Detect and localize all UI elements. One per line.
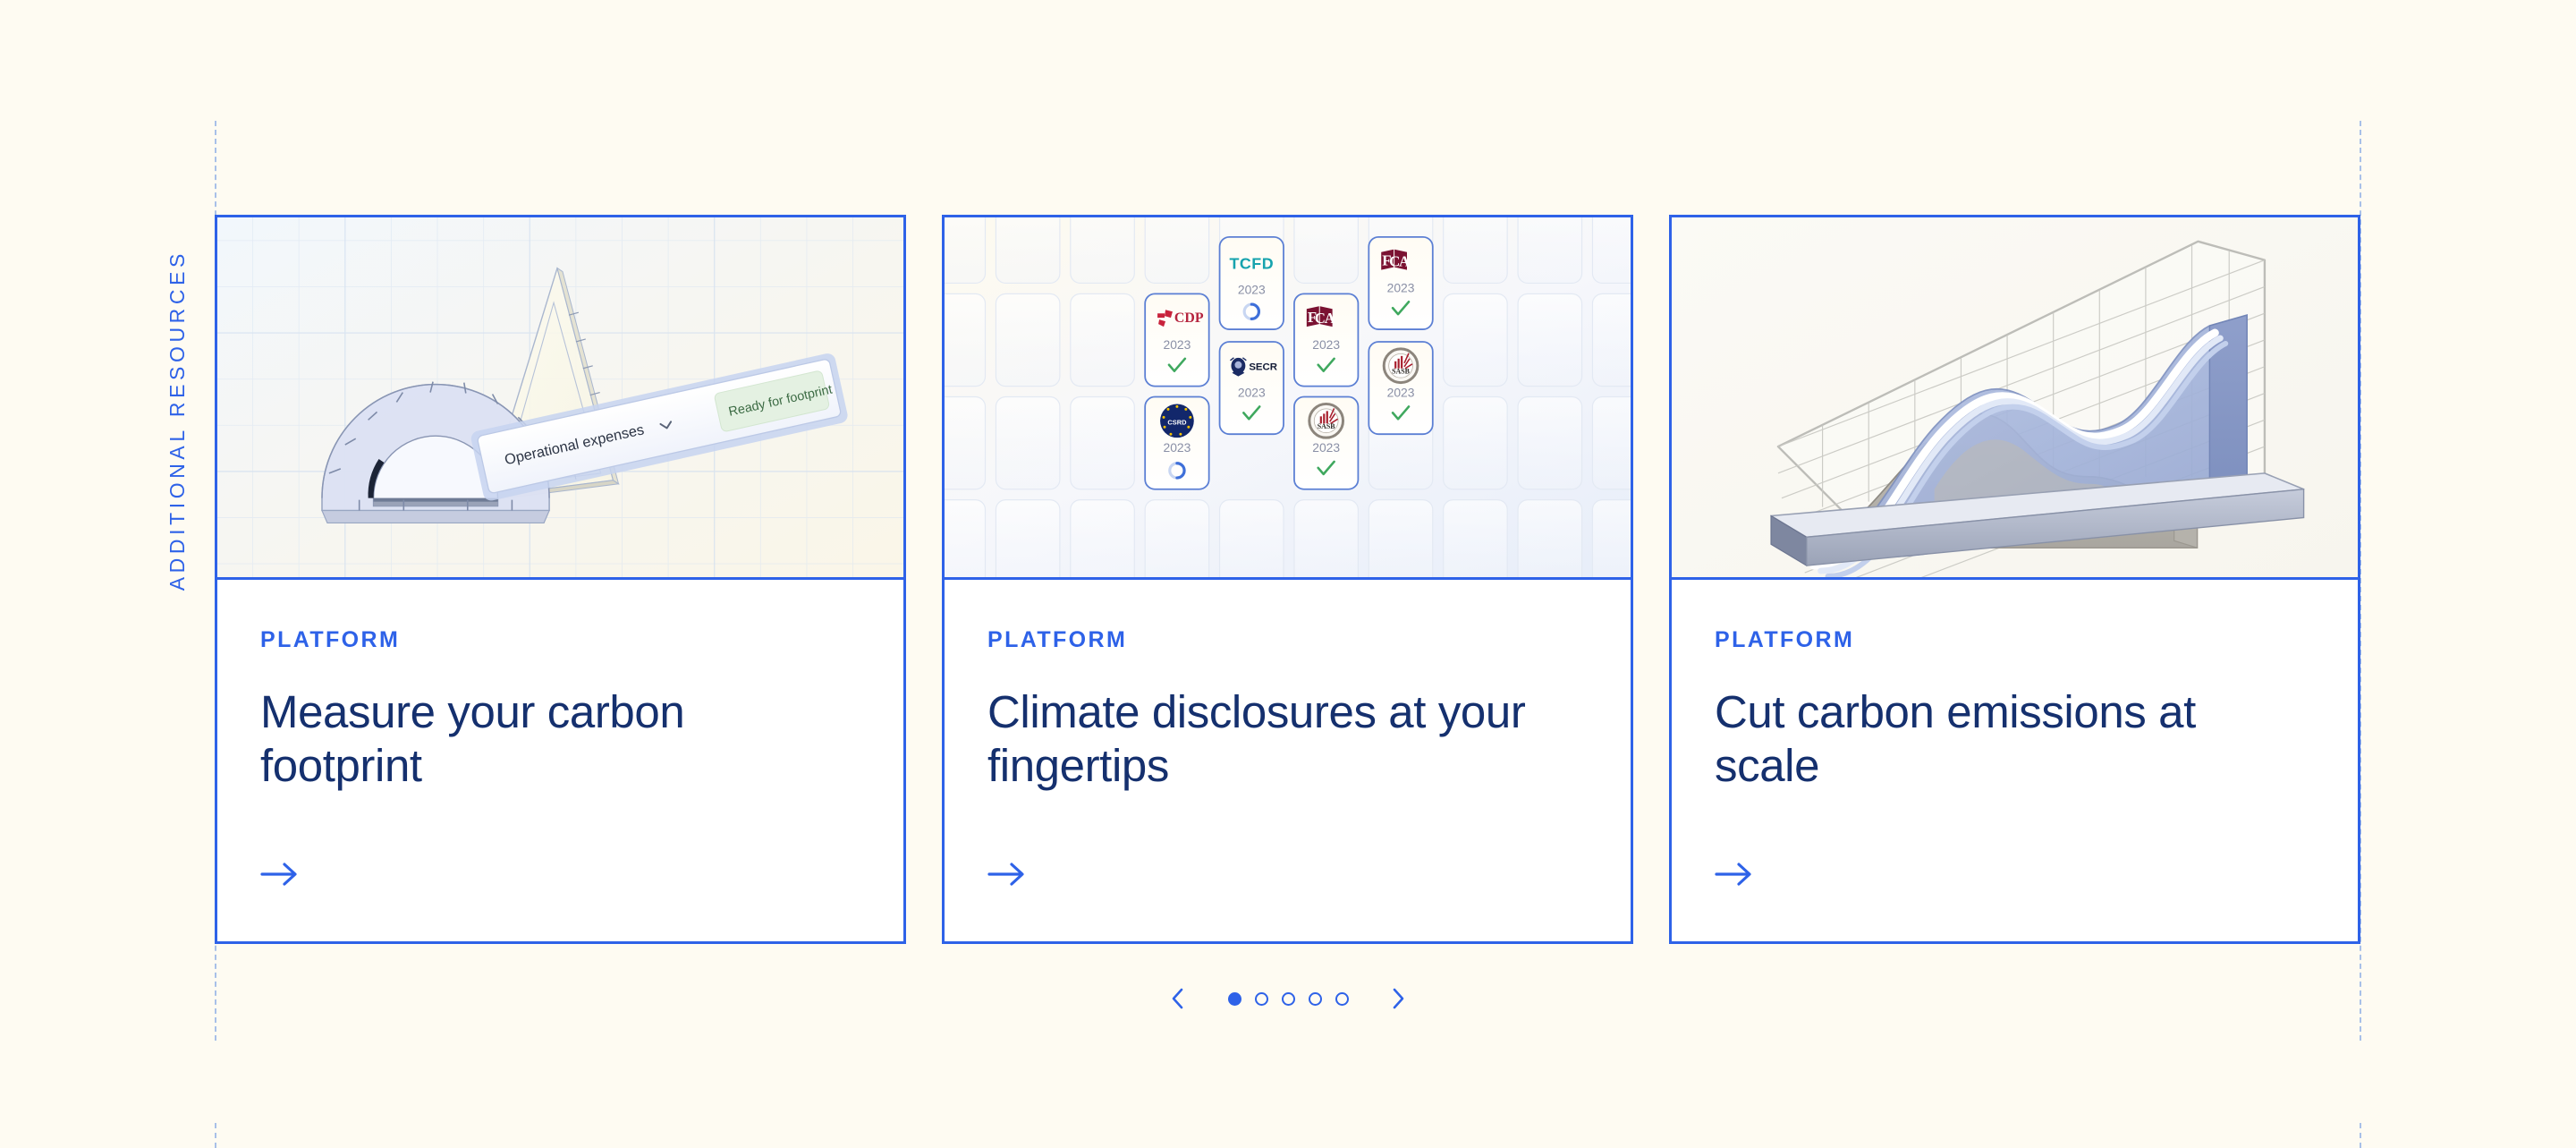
chevron-right-icon [1389, 987, 1407, 1010]
card-illustration-measure-footprint: Operational expenses Ready for footprint [217, 217, 903, 580]
svg-text:2023: 2023 [1238, 282, 1266, 296]
carousel-dot[interactable] [1275, 985, 1301, 1012]
carousel-dot[interactable] [1248, 985, 1275, 1012]
resource-card[interactable]: Operational expenses Ready for footprint… [215, 215, 906, 944]
svg-text:SASB: SASB [1392, 368, 1411, 376]
carousel-dot[interactable] [1221, 985, 1248, 1012]
card-eyebrow: PLATFORM [1715, 627, 2315, 653]
card-arrow-link[interactable] [260, 861, 300, 888]
carousel-pagination [0, 982, 2576, 1015]
svg-text:2023: 2023 [1387, 280, 1415, 294]
svg-text:2023: 2023 [1163, 337, 1191, 352]
resources-carousel: Operational expenses Ready for footprint… [215, 215, 2361, 944]
card-eyebrow: PLATFORM [987, 627, 1588, 653]
card-body: PLATFORM Climate disclosures at your fin… [945, 580, 1631, 941]
card-body: PLATFORM Measure your carbon footprint [217, 580, 903, 941]
svg-text:2023: 2023 [1312, 440, 1340, 455]
card-arrow-link[interactable] [987, 861, 1027, 888]
badge-tile-tcfd: TCFD 2023 [1220, 237, 1284, 329]
guide-line-left-bottom [215, 1123, 216, 1148]
arrow-right-icon [260, 861, 300, 888]
badge-tile-sasb: SASB 2023 [1294, 397, 1358, 489]
guide-line-right-bottom [2360, 1123, 2361, 1148]
svg-text:2023: 2023 [1163, 440, 1191, 455]
card-title: Measure your carbon footprint [260, 685, 833, 792]
svg-text:SECR: SECR [1249, 362, 1277, 373]
svg-text:2023: 2023 [1238, 386, 1266, 400]
svg-text:2023: 2023 [1387, 386, 1415, 400]
resource-card[interactable]: PLATFORM Cut carbon emissions at scale [1669, 215, 2360, 944]
card-body: PLATFORM Cut carbon emissions at scale [1672, 580, 2358, 941]
badge-tile-csrd: CSRD 2023 [1145, 397, 1208, 489]
carousel-next-button[interactable] [1382, 982, 1414, 1015]
svg-text:CDP: CDP [1174, 310, 1204, 326]
badge-tile-fca: F C A 2023 [1294, 293, 1358, 386]
svg-text:SASB: SASB [1318, 422, 1336, 430]
svg-text:2023: 2023 [1312, 337, 1340, 352]
resource-card[interactable]: CDP 2023 CSRD [942, 215, 1633, 944]
section-label: ADDITIONAL RESOURCES [159, 215, 195, 591]
svg-text:A: A [1325, 310, 1336, 327]
svg-text:A: A [1399, 253, 1411, 270]
section-label-text: ADDITIONAL RESOURCES [165, 250, 190, 591]
arrow-right-icon [1715, 861, 1754, 888]
svg-text:CSRD: CSRD [1167, 418, 1187, 426]
svg-text:TCFD: TCFD [1229, 255, 1274, 273]
card-arrow-link[interactable] [1715, 861, 1754, 888]
card-eyebrow: PLATFORM [260, 627, 860, 653]
badge-tile-sasb-2: SASB 2023 [1368, 342, 1432, 434]
carousel-dots [1221, 985, 1355, 1012]
badge-tile-secr: SECR 2023 [1220, 342, 1284, 434]
badge-tile-fca-2: F C A 2023 [1368, 237, 1432, 329]
card-title: Cut carbon emissions at scale [1715, 685, 2287, 792]
carousel-dot[interactable] [1301, 985, 1328, 1012]
card-illustration-climate-disclosures: CDP 2023 CSRD [945, 217, 1631, 580]
carousel-prev-button[interactable] [1162, 982, 1194, 1015]
protractor-set-square-illustration: Operational expenses Ready for footprint [217, 217, 903, 577]
emissions-curve-sculpture-illustration [1672, 217, 2358, 577]
arrow-right-icon [987, 861, 1027, 888]
chevron-left-icon [1169, 987, 1187, 1010]
card-illustration-cut-emissions [1672, 217, 2358, 580]
badge-tile-cdp: CDP 2023 [1145, 293, 1208, 386]
disclosure-framework-badges-illustration: CDP 2023 CSRD [945, 217, 1631, 577]
carousel-dot[interactable] [1328, 985, 1355, 1012]
card-title: Climate disclosures at your fingertips [987, 685, 1560, 792]
